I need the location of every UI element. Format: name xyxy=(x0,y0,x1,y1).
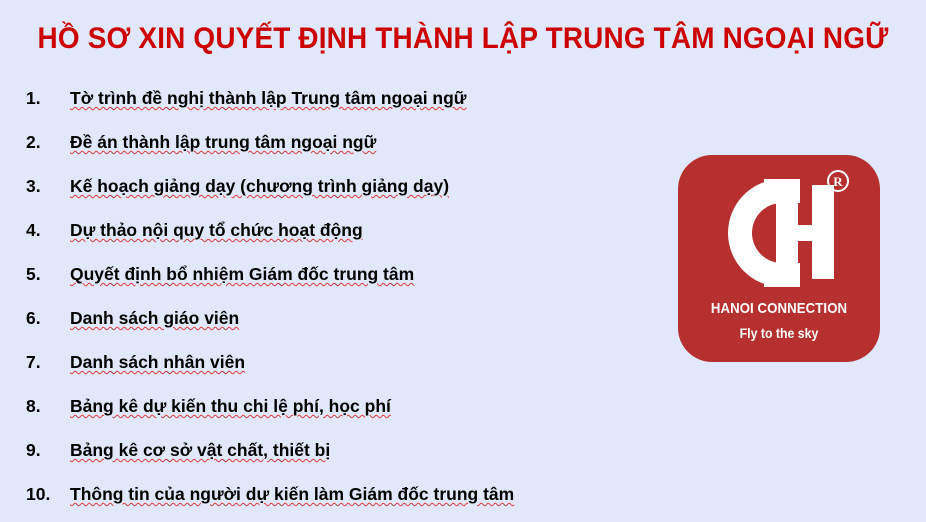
document-checklist: 1. Tờ trình đề nghị thành lập Trung tâm … xyxy=(26,76,646,516)
list-item-number: 8. xyxy=(26,395,70,417)
list-item-number: 1. xyxy=(26,87,70,109)
list-item: 4. Dự thảo nội quy tổ chức hoạt động xyxy=(26,208,646,252)
list-item-label: Tờ trình đề nghị thành lập Trung tâm ngo… xyxy=(70,87,466,109)
list-item-number: 10. xyxy=(26,483,70,505)
list-item: 10. Thông tin của người dự kiến làm Giám… xyxy=(26,472,646,516)
svg-text:R: R xyxy=(833,174,843,189)
list-item-number: 3. xyxy=(26,175,70,197)
list-item: 9. Bảng kê cơ sở vật chất, thiết bị xyxy=(26,428,646,472)
list-item-number: 4. xyxy=(26,219,70,241)
list-item-label: Danh sách giáo viên xyxy=(70,307,239,329)
list-item-label: Bảng kê cơ sở vật chất, thiết bị xyxy=(70,439,330,461)
list-item: 7. Danh sách nhân viên xyxy=(26,340,646,384)
list-item-label: Thông tin của người dự kiến làm Giám đốc… xyxy=(70,483,514,505)
list-item: 6. Danh sách giáo viên xyxy=(26,296,646,340)
list-item-label: Quyết định bổ nhiệm Giám đốc trung tâm xyxy=(70,263,414,285)
logo-brand-name: HANOI CONNECTION xyxy=(690,300,868,317)
list-item-number: 2. xyxy=(26,131,70,153)
list-item: 8. Bảng kê dự kiến thu chi lệ phí, học p… xyxy=(26,384,646,428)
list-item-number: 6. xyxy=(26,307,70,329)
list-item-number: 9. xyxy=(26,439,70,461)
list-item-number: 5. xyxy=(26,263,70,285)
list-item: 2. Đề án thành lập trung tâm ngoại ngữ xyxy=(26,120,646,164)
list-item-label: Kế hoạch giảng dạy (chương trình giảng d… xyxy=(70,175,449,197)
slide-canvas: HỒ SƠ XIN QUYẾT ĐỊNH THÀNH LẬP TRUNG TÂM… xyxy=(0,0,926,522)
list-item-label: Dự thảo nội quy tổ chức hoạt động xyxy=(70,219,363,241)
list-item-label: Bảng kê dự kiến thu chi lệ phí, học phí xyxy=(70,395,391,417)
logo-tagline: Fly to the sky xyxy=(690,325,868,341)
list-item-number: 7. xyxy=(26,351,70,373)
list-item: 3. Kế hoạch giảng dạy (chương trình giản… xyxy=(26,164,646,208)
list-item: 5. Quyết định bổ nhiệm Giám đốc trung tâ… xyxy=(26,252,646,296)
ch-monogram-icon: R xyxy=(704,167,854,297)
hanoi-connection-logo: R HANOI CONNECTION Fly to the sky xyxy=(678,155,880,362)
list-item-label: Đề án thành lập trung tâm ngoại ngữ xyxy=(70,131,376,153)
list-item-label: Danh sách nhân viên xyxy=(70,351,245,373)
list-item: 1. Tờ trình đề nghị thành lập Trung tâm … xyxy=(26,76,646,120)
page-title: HỒ SƠ XIN QUYẾT ĐỊNH THÀNH LẬP TRUNG TÂM… xyxy=(32,22,893,56)
